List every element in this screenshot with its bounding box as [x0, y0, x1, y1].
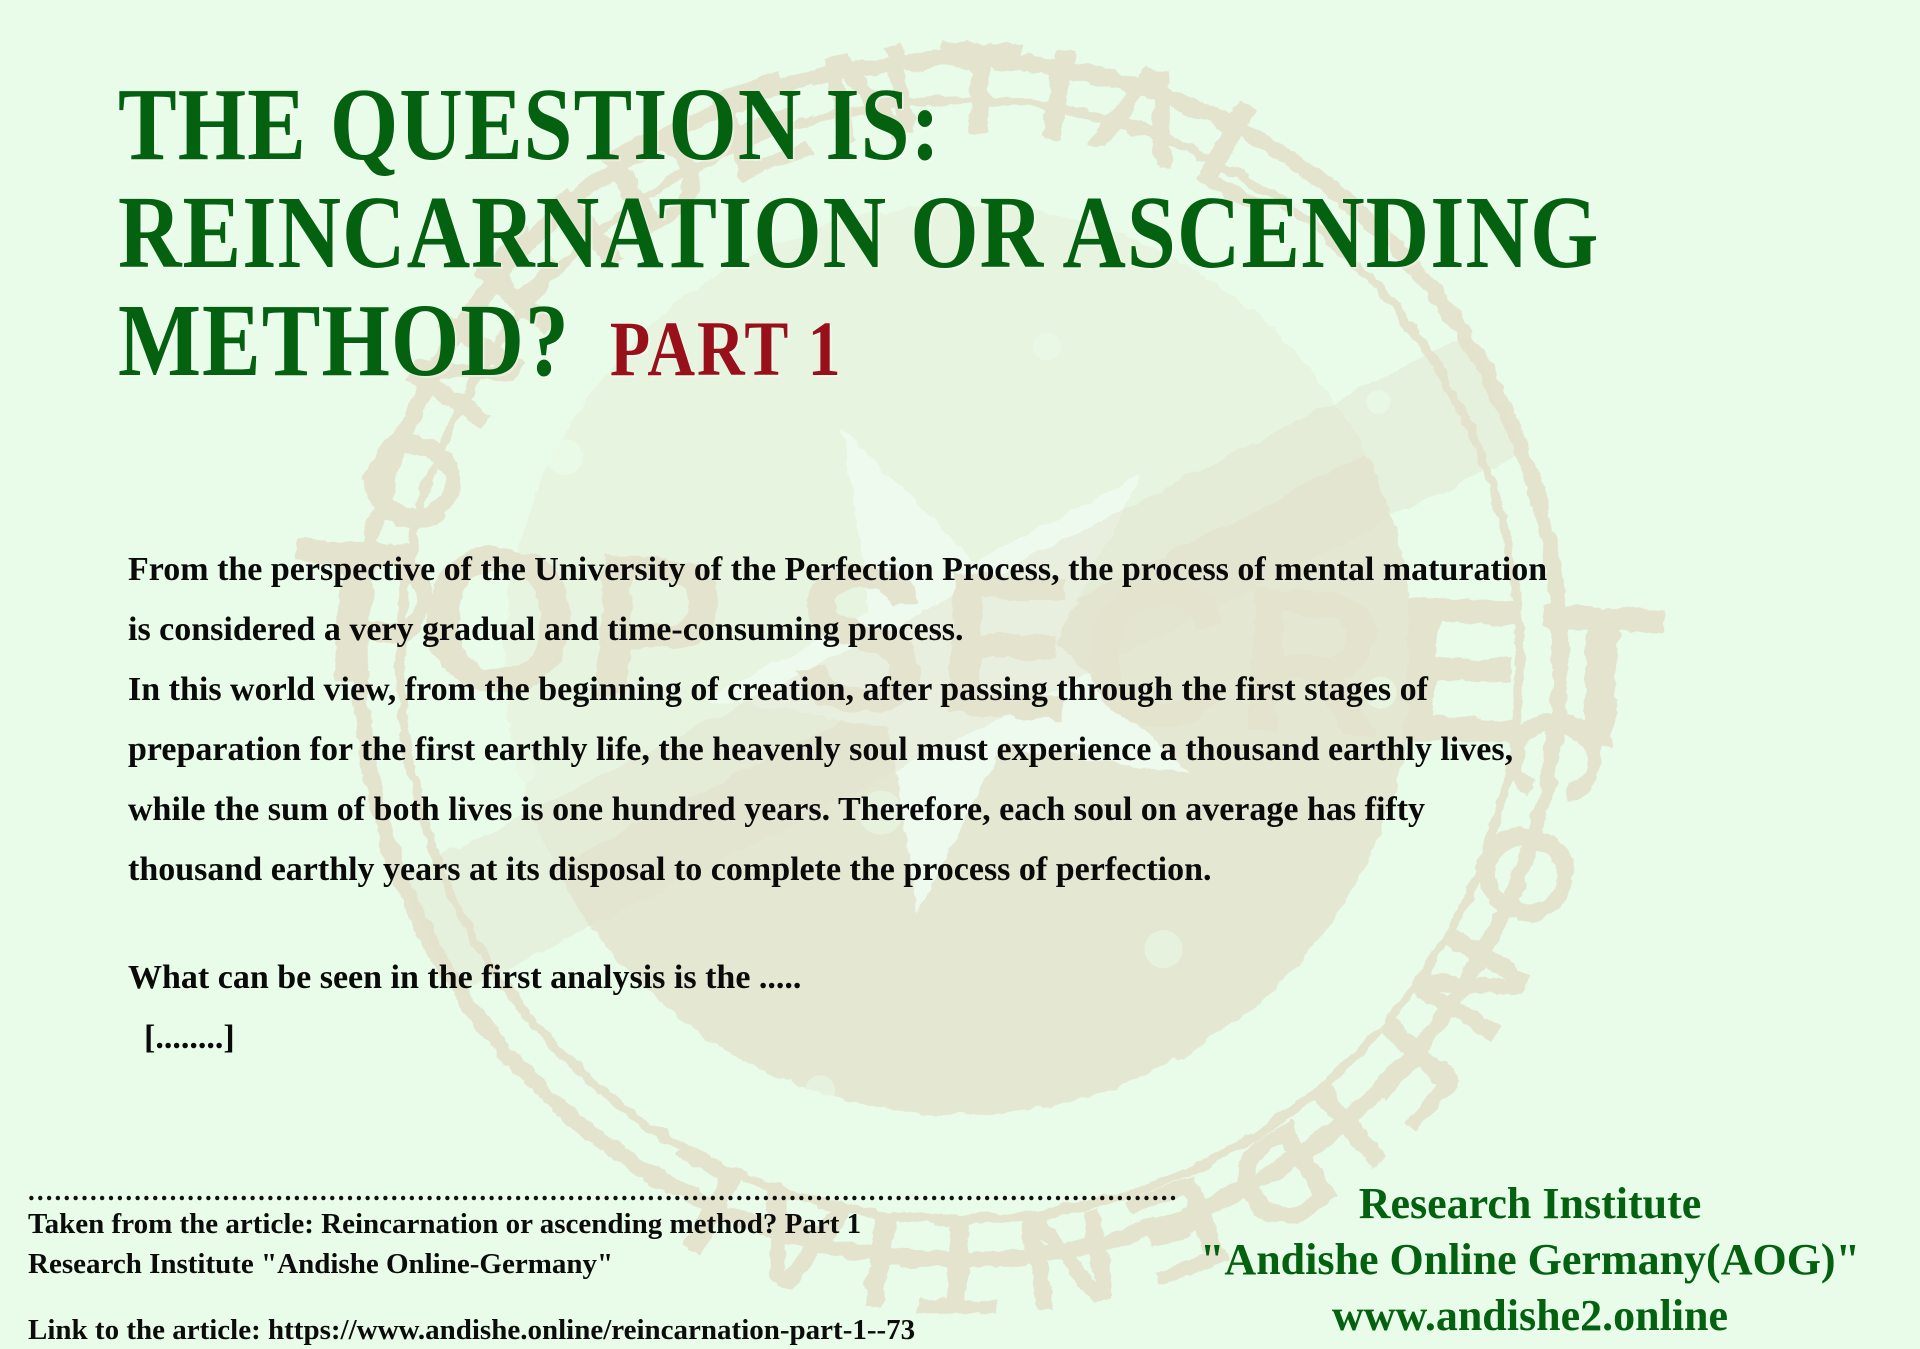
- footer-source-block: ........................................…: [28, 1178, 1208, 1349]
- title-line-3-wrapper: METHOD? PART 1: [118, 278, 1878, 414]
- body-p2-line-4: thousand earthly years at its disposal t…: [128, 840, 1868, 900]
- body-question-line: What can be seen in the first analysis i…: [128, 948, 1868, 1008]
- institute-website[interactable]: www.andishe2.online: [1180, 1288, 1880, 1344]
- footer-source-line-1: Taken from the article: Reincarnation or…: [28, 1204, 1208, 1244]
- page-title: THE QUESTION IS: REINCARNATION OR ASCEND…: [118, 62, 1878, 393]
- footer-divider: ........................................…: [28, 1178, 1208, 1204]
- body-spacer: [128, 900, 1868, 948]
- title-line-3-text: METHOD?: [118, 278, 570, 405]
- body-p2-line-1: In this world view, from the beginning o…: [128, 660, 1868, 720]
- poster-canvas: CONFIDENTIAL CONFIDENTIAL TOP SECRET THE: [0, 0, 1920, 1349]
- body-bracket-ellipsis: [........]: [128, 1008, 1868, 1068]
- title-part-badge: PART 1: [610, 286, 843, 413]
- institute-block: Research Institute "Andishe Online Germa…: [1180, 1176, 1880, 1344]
- body-p1-line-1: From the perspective of the University o…: [128, 540, 1868, 600]
- body-p2-line-2: preparation for the first earthly life, …: [128, 720, 1868, 780]
- body-p1-line-2: is considered a very gradual and time-co…: [128, 600, 1868, 660]
- footer-source-line-2: Research Institute "Andishe Online-Germa…: [28, 1244, 1208, 1284]
- institute-name-line-1: Research Institute: [1180, 1176, 1880, 1232]
- footer-article-link[interactable]: Link to the article: https://www.andishe…: [28, 1310, 1208, 1349]
- body-p2-line-3: while the sum of both lives is one hundr…: [128, 780, 1868, 840]
- institute-name-line-2: "Andishe Online Germany(AOG)": [1180, 1232, 1880, 1288]
- body-content: From the perspective of the University o…: [128, 540, 1868, 1068]
